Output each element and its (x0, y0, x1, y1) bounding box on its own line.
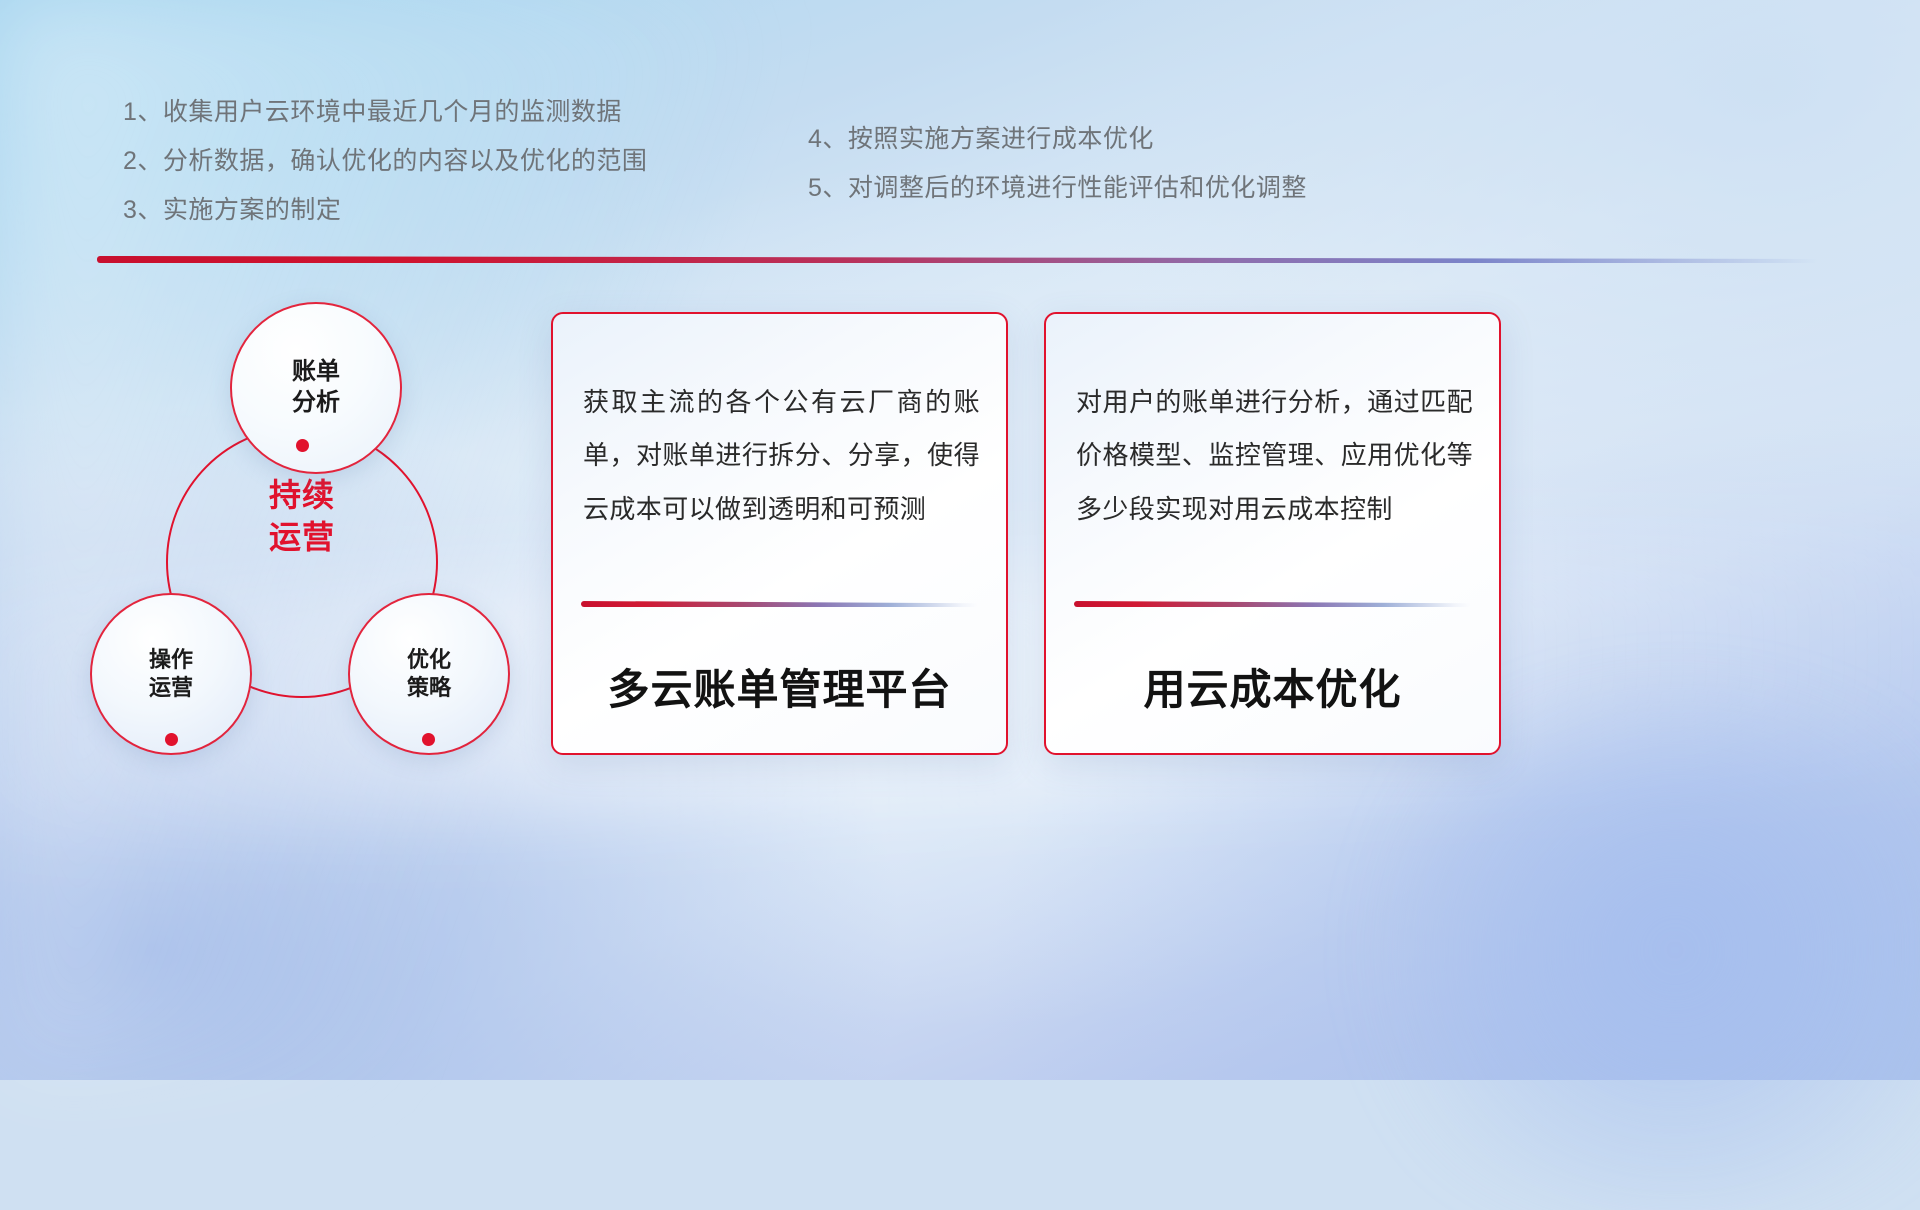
venn-node-billing-analysis-line2: 分析 (292, 388, 340, 419)
venn-center-label: 持续 运营 (166, 475, 438, 558)
venn-node-operations-line2: 运营 (149, 674, 193, 702)
step-item-3: 3、实施方案的制定 (123, 198, 647, 223)
venn-node-operations[interactable]: 操作 运营 (90, 593, 252, 755)
step-item-4: 4、按照实施方案进行成本优化 (808, 127, 1307, 152)
venn-node-optimization-strategy[interactable]: 优化 策略 (348, 593, 510, 755)
card-multi-cloud-billing-body: 获取主流的各个公有云厂商的账单，对账单进行拆分、分享，使得云成本可以做到透明和可… (583, 376, 980, 536)
venn-node-billing-analysis[interactable]: 账单 分析 (230, 302, 402, 474)
step-item-2: 2、分析数据，确认优化的内容以及优化的范围 (123, 149, 647, 174)
venn-connector-dot-top (296, 439, 309, 452)
venn-connector-dot-right (422, 733, 435, 746)
step-item-5: 5、对调整后的环境进行性能评估和优化调整 (808, 176, 1307, 201)
steps-list-right: 4、按照实施方案进行成本优化 5、对调整后的环境进行性能评估和优化调整 (808, 127, 1307, 201)
venn-node-billing-analysis-line1: 账单 (292, 357, 340, 388)
venn-center-label-line1: 持续 (166, 475, 438, 517)
venn-node-optimization-strategy-line2: 策略 (407, 674, 451, 702)
step-item-1: 1、收集用户云环境中最近几个月的监测数据 (123, 100, 647, 125)
steps-list-left: 1、收集用户云环境中最近几个月的监测数据 2、分析数据，确认优化的内容以及优化的… (123, 100, 647, 223)
card-cloud-cost-optimization-rule (1074, 601, 1471, 607)
card-multi-cloud-billing-title: 多云账单管理平台 (553, 656, 1006, 717)
card-cloud-cost-optimization-title: 用云成本优化 (1046, 656, 1499, 717)
venn-diagram: 持续 运营 账单 分析 操作 运营 优化 策略 (70, 290, 540, 770)
venn-node-optimization-strategy-line1: 优化 (407, 646, 451, 674)
card-cloud-cost-optimization[interactable]: 对用户的账单进行分析，通过匹配价格模型、监控管理、应用优化等多少段实现对用云成本… (1044, 312, 1501, 755)
venn-center-label-line2: 运营 (166, 517, 438, 559)
venn-node-operations-line1: 操作 (149, 646, 193, 674)
card-multi-cloud-billing-rule (581, 601, 978, 607)
card-multi-cloud-billing[interactable]: 获取主流的各个公有云厂商的账单，对账单进行拆分、分享，使得云成本可以做到透明和可… (551, 312, 1008, 755)
venn-connector-dot-left (165, 733, 178, 746)
card-cloud-cost-optimization-body: 对用户的账单进行分析，通过匹配价格模型、监控管理、应用优化等多少段实现对用云成本… (1076, 376, 1473, 536)
